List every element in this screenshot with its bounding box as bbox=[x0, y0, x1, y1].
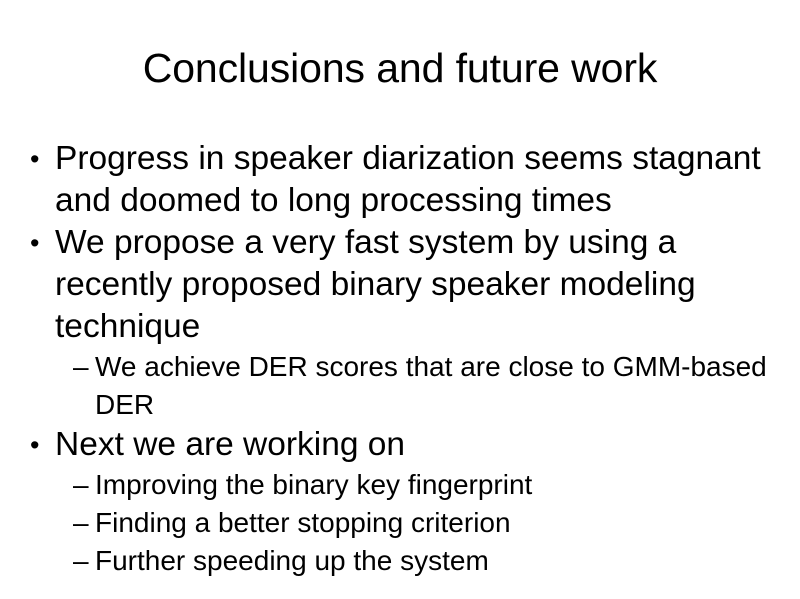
bullet-dot-icon: • bbox=[22, 138, 55, 180]
bullet-item-level2: – Improving the binary key fingerprint bbox=[73, 466, 782, 504]
bullet-text: Finding a better stopping criterion bbox=[95, 504, 782, 542]
bullet-text: Improving the binary key fingerprint bbox=[95, 466, 782, 504]
bullet-dot-icon: • bbox=[22, 222, 55, 264]
bullet-dot-icon: • bbox=[22, 424, 55, 466]
bullet-text: Progress in speaker diarization seems st… bbox=[55, 138, 782, 222]
bullet-dash-icon: – bbox=[73, 542, 95, 580]
bullet-item-level2: – Finding a better stopping criterion bbox=[73, 504, 782, 542]
bullet-dash-icon: – bbox=[73, 348, 95, 386]
bullet-text: We propose a very fast system by using a… bbox=[55, 222, 782, 348]
slide-body-content: • Progress in speaker diarization seems … bbox=[22, 138, 782, 580]
bullet-item-level1: • Next we are working on bbox=[22, 424, 782, 466]
bullet-item-level2: – We achieve DER scores that are close t… bbox=[73, 348, 782, 424]
bullet-text: We achieve DER scores that are close to … bbox=[95, 348, 782, 424]
bullet-dash-icon: – bbox=[73, 504, 95, 542]
bullet-text: Further speeding up the system bbox=[95, 542, 782, 580]
bullet-text: Next we are working on bbox=[55, 424, 782, 466]
presentation-slide: Conclusions and future work • Progress i… bbox=[0, 0, 800, 599]
bullet-dash-icon: – bbox=[73, 466, 95, 504]
bullet-item-level1: • Progress in speaker diarization seems … bbox=[22, 138, 782, 222]
bullet-item-level2: – Further speeding up the system bbox=[73, 542, 782, 580]
bullet-item-level1: • We propose a very fast system by using… bbox=[22, 222, 782, 348]
page-title: Conclusions and future work bbox=[0, 44, 800, 92]
